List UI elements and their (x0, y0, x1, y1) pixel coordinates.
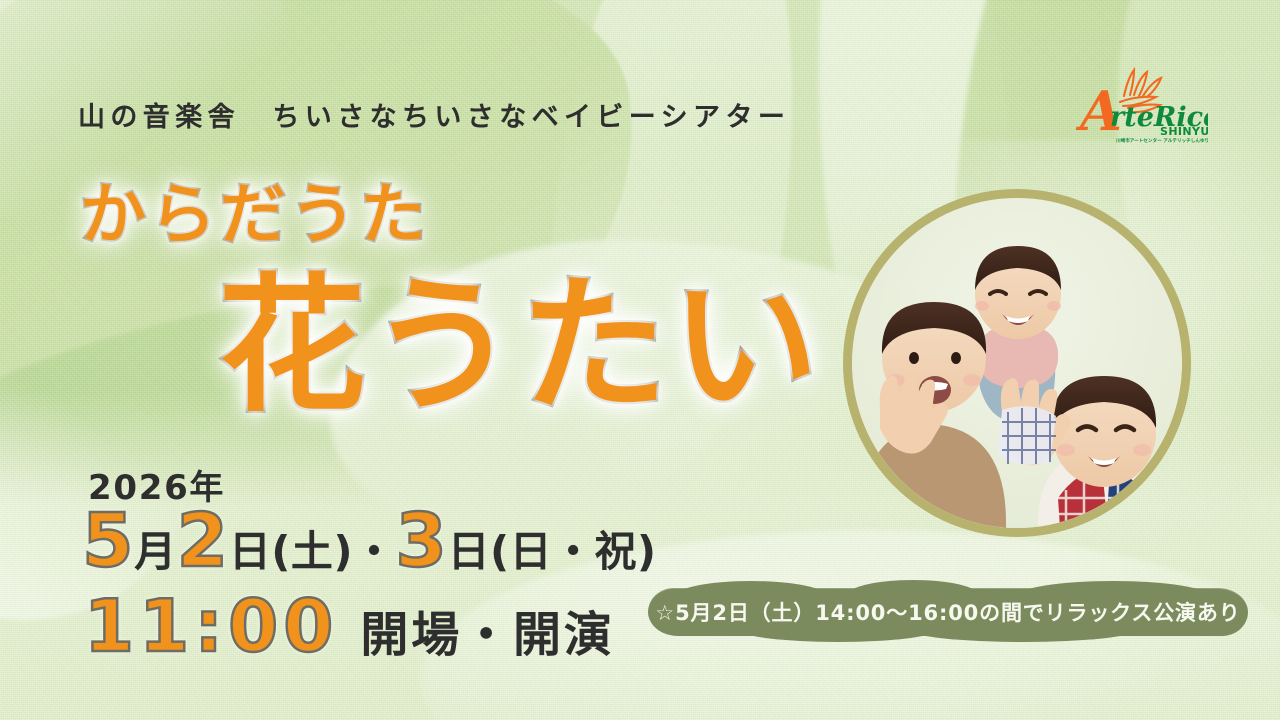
title-small: からだうた (80, 182, 430, 248)
title-large: 花うたい (218, 272, 822, 420)
arteRicca-logo: A rteRicca SHINYURI 川崎市アートセンター アルテリッチしんゆ… (1068, 62, 1208, 148)
relax-performance-banner: ☆5月2日（土）14:00〜16:00の間でリラックス公演あり (648, 588, 1248, 636)
checked-fabric (998, 406, 1056, 465)
time-line: 11:00 開場・開演 (84, 584, 615, 668)
logo-tagline: 川崎市アートセンター アルテリッチしんゆり (1115, 137, 1208, 144)
day1-number: 2 (177, 498, 229, 584)
baby-right (1038, 376, 1170, 528)
month-kanji: 月 (134, 527, 176, 576)
day2-number: 3 (395, 498, 447, 584)
logo-mark-icon: A rteRicca SHINYURI 川崎市アートセンター アルテリッチしんゆ… (1068, 62, 1208, 148)
time-label: 開場・開演 (360, 607, 614, 663)
day1-label: 日(土)・ (229, 527, 396, 576)
subhead-text: 山の音楽舎 ちいさなちいさなベイビーシアター (78, 95, 790, 134)
time-value: 11:00 (84, 584, 338, 668)
babies-photo-illustration (852, 198, 1182, 528)
banner-text: ☆5月2日（土）14:00〜16:00の間でリラックス公演あり (655, 597, 1240, 627)
logo-sub: SHINYURI (1160, 125, 1208, 138)
babies-photo (852, 198, 1182, 528)
poster-canvas: 山の音楽舎 ちいさなちいさなベイビーシアター A rteRicca SHINYU… (0, 0, 1280, 720)
poster-content: 山の音楽舎 ちいさなちいさなベイビーシアター A rteRicca SHINYU… (0, 0, 1280, 720)
date-line: 5 月 2 日(土)・ 3 日(日・祝) (82, 498, 657, 584)
day2-label: 日(日・祝) (448, 527, 657, 576)
month-number: 5 (82, 498, 134, 584)
